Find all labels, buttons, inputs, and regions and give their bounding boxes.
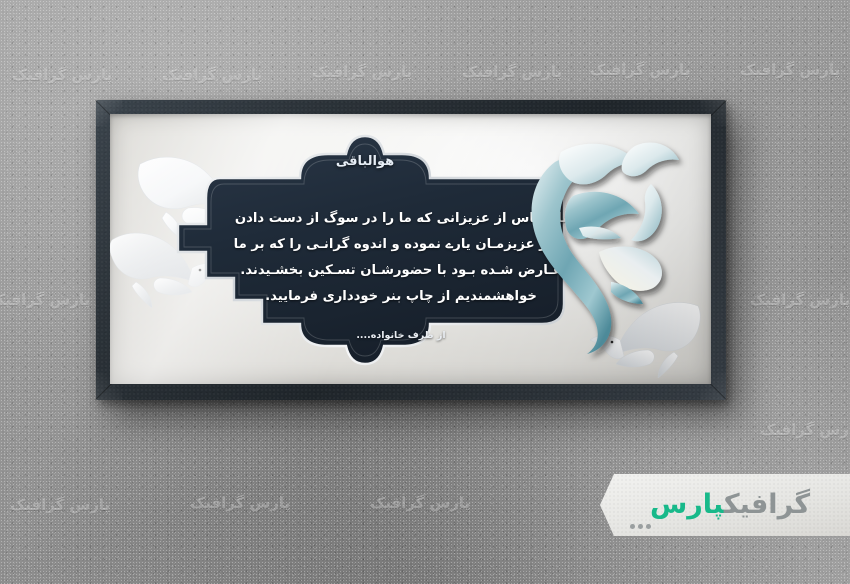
screenshot-root: پارس گرافیکپارس گرافیکپارس گرافیکپارس گر… <box>0 0 850 584</box>
brand-logo-text: گرافیکپارس <box>624 484 836 526</box>
banner-artwork-canvas: هوالباقی با سپاس از عزیزانی که ما را در … <box>110 114 711 384</box>
brand-second-word: گرافیک <box>724 489 810 520</box>
brand-logo-ribbon[interactable]: گرافیکپارس <box>600 474 850 536</box>
logo-dots-decoration <box>630 524 651 529</box>
brand-first-word: پارس <box>650 489 724 520</box>
picture-frame: هوالباقی با سپاس از عزیزانی که ما را در … <box>96 100 726 400</box>
taslit-calligraphy <box>515 132 705 362</box>
